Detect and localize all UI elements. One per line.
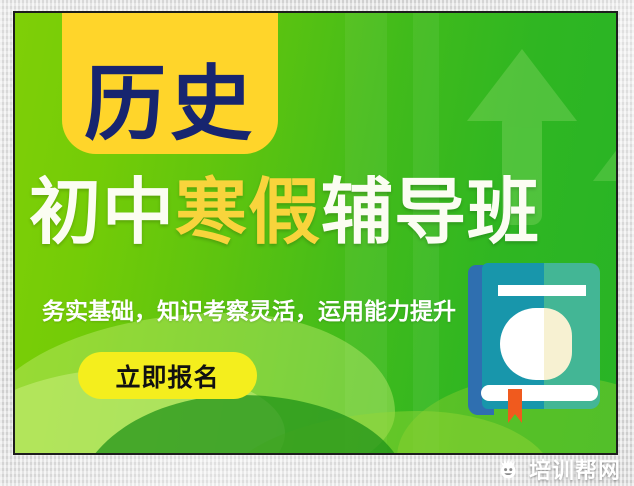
subject-tag: 历史 [62, 11, 278, 154]
site-watermark-label: 培训帮网 [529, 453, 621, 485]
book-icon [468, 263, 600, 415]
enroll-now-button-label: 立即报名 [115, 358, 219, 394]
page-background: 历史 初中寒假辅导班 务实基础，知识考察灵活，运用能力提升 立即报名 [0, 0, 634, 486]
page-title: 初中寒假辅导班 [29, 176, 609, 248]
headline-part-1: 初中 [29, 170, 175, 254]
headline-part-3: 辅导班 [321, 170, 540, 254]
book-pages [481, 385, 598, 401]
arrow-head [467, 49, 577, 121]
banner-subtitle: 务实基础，知识考察灵活，运用能力提升 [42, 292, 456, 326]
smiley-sun-icon [498, 457, 522, 481]
promo-banner[interactable]: 历史 初中寒假辅导班 务实基础，知识考察灵活，运用能力提升 立即报名 [13, 11, 618, 455]
book-title-band [498, 285, 586, 296]
subject-tag-label: 历史 [84, 64, 256, 146]
site-watermark: 培训帮网 [492, 452, 627, 486]
arrow-head [593, 127, 618, 181]
headline-part-2: 寒假 [175, 170, 321, 254]
enroll-now-button[interactable]: 立即报名 [78, 352, 257, 399]
